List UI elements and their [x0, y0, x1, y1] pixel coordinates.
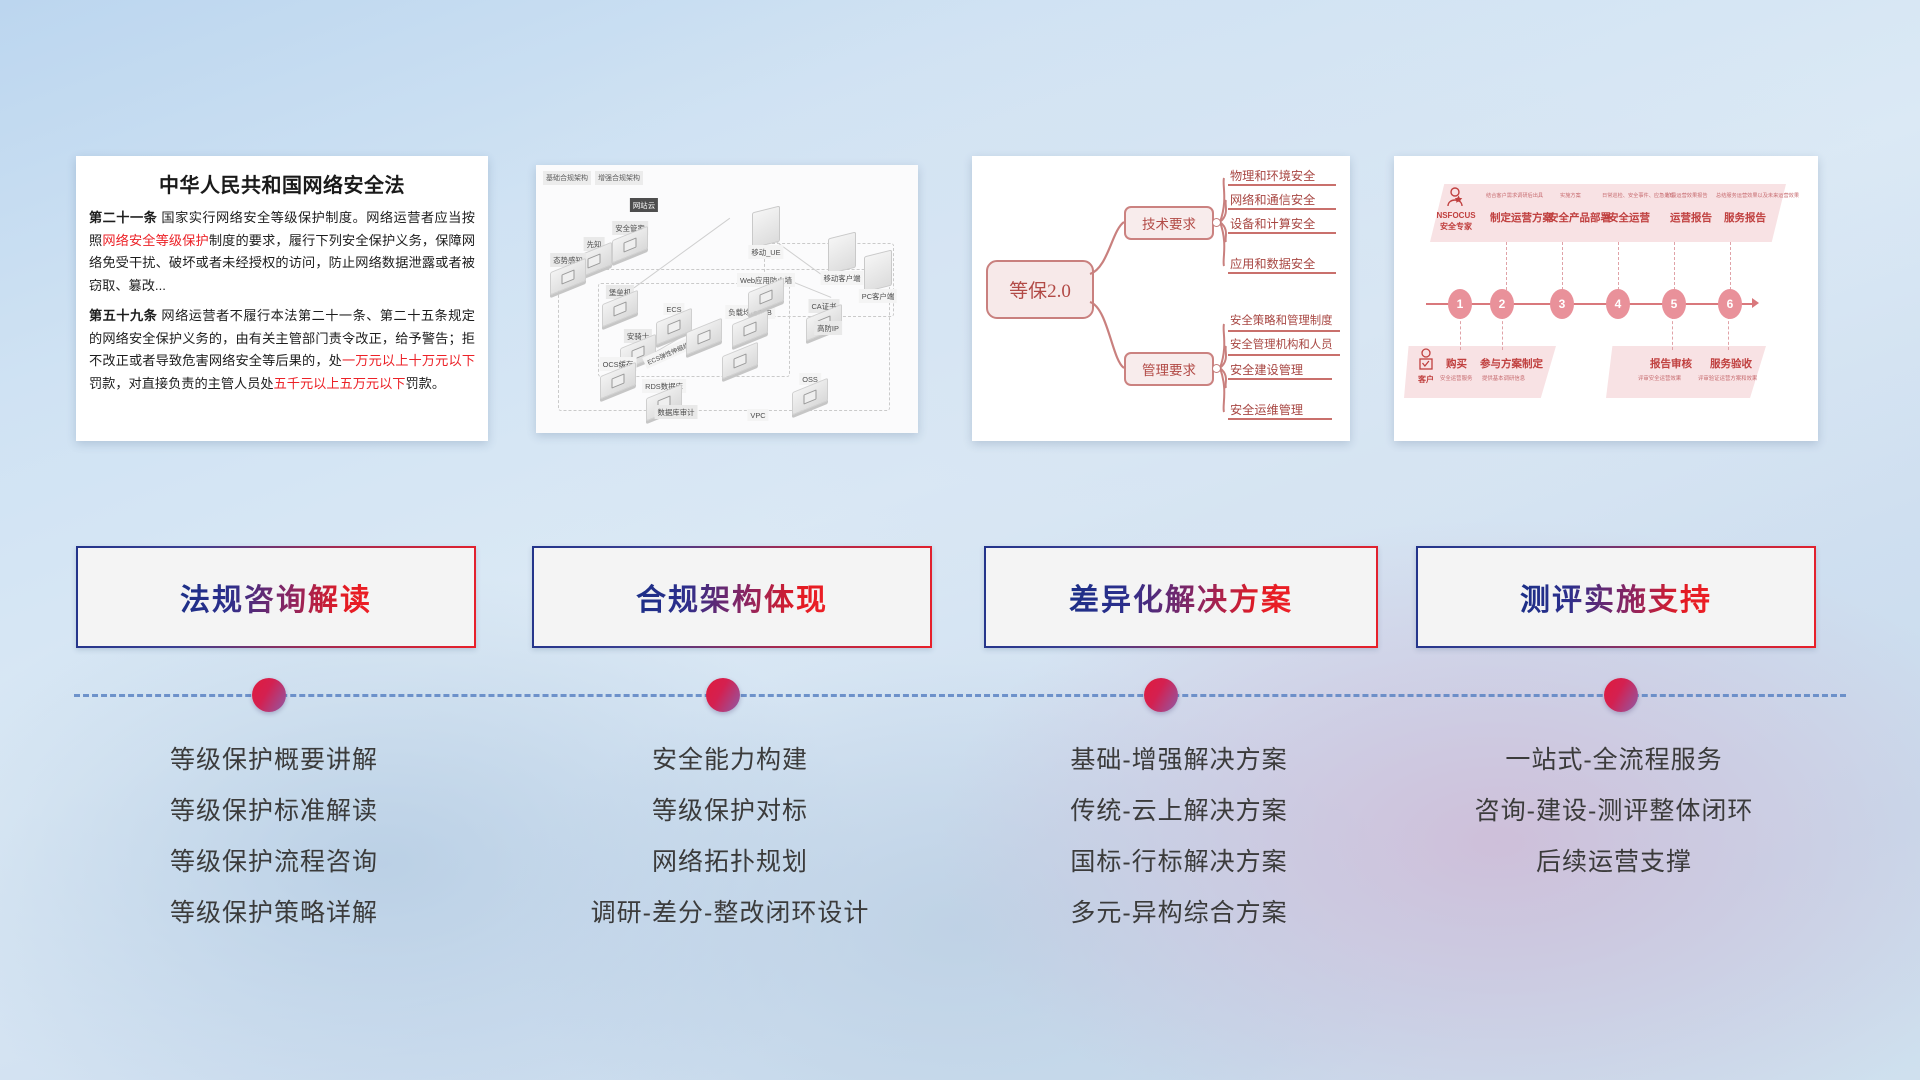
law-article-59-highlight-1: 一万元以上十万元以下	[342, 353, 475, 368]
timeline-customer-role: 客户	[1414, 374, 1438, 385]
timeline-step-node[interactable]: 2	[1490, 289, 1514, 319]
timeline-top-main: 运营报告	[1670, 210, 1712, 225]
arch-node-label: 高防IP	[814, 321, 842, 335]
timeline-expert-role-line1: NSFOCUS	[1436, 211, 1475, 220]
timeline-top-sub: 阶段运营效果报告	[1666, 192, 1708, 199]
timeline-connector	[1562, 242, 1564, 290]
timeline-expert-role: NSFOCUS 安全专家	[1426, 210, 1486, 232]
list-item: 国标-行标解决方案	[984, 837, 1374, 888]
mindmap-leaf[interactable]: 安全运维管理	[1230, 400, 1303, 418]
timeline-top-main: 安全运营	[1608, 210, 1650, 225]
law-article-21-highlight: 网络安全等级保护	[102, 233, 209, 248]
list-item: 基础-增强解决方案	[984, 735, 1374, 786]
section-heading-label: 测评实施支持	[1520, 575, 1712, 619]
timeline-top-main: 安全产品部署	[1548, 210, 1611, 225]
timeline-top-sub: 日常巡检、安全事件、应急处理	[1602, 192, 1675, 199]
list-item: 传统-云上解决方案	[984, 786, 1374, 837]
mindmap-leaf[interactable]: 安全管理机构和人员	[1230, 336, 1333, 352]
timeline-step-node[interactable]: 4	[1606, 289, 1630, 319]
timeline-connector	[1674, 242, 1676, 290]
mindmap-leaf[interactable]: 安全建设管理	[1230, 360, 1303, 378]
list-item: 调研-差分-整改闭环设计	[532, 888, 928, 939]
timeline-step-node[interactable]: 6	[1718, 289, 1742, 319]
rail-dot-3[interactable]	[1144, 678, 1178, 712]
rail-dot-1[interactable]	[252, 678, 286, 712]
arch-node-pc-client[interactable]: PC客户端	[864, 253, 892, 289]
law-article-59-highlight-2: 五千元以上五万元以下	[274, 376, 406, 391]
card-service-timeline[interactable]: NSFOCUS 安全专家 客户 结合客户需求调研后出具 制定运营方案 实施方案 …	[1394, 156, 1818, 441]
list-item: 等级保护概要讲解	[76, 735, 472, 786]
timeline-connector	[1730, 242, 1732, 290]
timeline-bottom-sub: 提供基本调研信息	[1482, 374, 1525, 382]
arch-node-label: 移动客户端	[821, 271, 864, 285]
section-heading-label: 合规架构体现	[636, 575, 828, 619]
customer-person-icon	[1416, 348, 1436, 372]
arch-node-label: 网站云	[630, 198, 658, 212]
list-item: 一站式-全流程服务	[1416, 735, 1812, 786]
section-heading-label: 差异化解决方案	[1069, 575, 1293, 619]
timeline-axis	[1426, 303, 1756, 305]
architecture-tab-enhanced[interactable]: 增强合规架构	[595, 171, 643, 185]
list-item: 咨询-建设-测评整体闭环	[1416, 786, 1812, 837]
list-item: 多元-异构综合方案	[984, 888, 1374, 939]
architecture-diagram: 基础合规架构 增强合规架构 网站云 安全管家	[536, 165, 918, 433]
timeline-step-node[interactable]: 1	[1448, 289, 1472, 319]
timeline-step-node[interactable]: 5	[1662, 289, 1686, 319]
mindmap-leaf[interactable]: 应用和数据安全	[1230, 254, 1315, 272]
law-article-59-label: 第五十九条	[89, 308, 157, 323]
law-body: 第二十一条 国家实行网络安全等级保护制度。网络运营者应当按照网络安全等级保护制度…	[76, 207, 488, 396]
mindmap-collapse-icon[interactable]	[1212, 364, 1221, 373]
arch-node-mobile-ue[interactable]: 移动_UE	[752, 209, 780, 245]
arch-node-mobile-client[interactable]: 移动客户端	[828, 235, 856, 271]
section-heading-differentiated-solution[interactable]: 差异化解决方案	[984, 546, 1378, 648]
mindmap-leaf-underline	[1228, 330, 1340, 332]
mindmap-collapse-icon[interactable]	[1212, 218, 1221, 227]
section-heading-regulation-consulting[interactable]: 法规咨询解读	[76, 546, 476, 648]
timeline-connector	[1502, 316, 1504, 350]
list-item: 等级保护标准解读	[76, 786, 472, 837]
law-article-59: 第五十九条 网络运营者不履行本法第二十一条、第二十五条规定的网络安全保护义务的，…	[89, 305, 475, 396]
timeline-connector	[1618, 242, 1620, 290]
arch-node-label: 移动_UE	[748, 245, 783, 259]
mindmap-leaf-underline	[1228, 378, 1332, 380]
arch-node-shape	[752, 206, 780, 249]
law-article-21: 第二十一条 国家实行网络安全等级保护制度。网络运营者应当按照网络安全等级保护制度…	[89, 207, 475, 298]
section-heading-compliance-architecture[interactable]: 合规架构体现	[532, 546, 932, 648]
arch-node-ecs-c	[722, 349, 758, 372]
mindmap-branch-technical[interactable]: 技术要求	[1124, 206, 1214, 240]
section-items-compliance-architecture: 安全能力构建 等级保护对标 网络拓扑规划 调研-差分-整改闭环设计	[532, 735, 928, 939]
timeline-bottom-main: 服务验收	[1710, 356, 1752, 371]
timeline-top-main: 服务报告	[1724, 210, 1766, 225]
timeline-bottom-sub: 评审安全运营效果	[1638, 374, 1681, 382]
timeline-dashed-rail	[74, 694, 1846, 699]
law-article-59-text-c: 罚款。	[406, 376, 446, 391]
mindmap-leaf-underline	[1228, 354, 1340, 356]
timeline-bottom-main: 参与方案制定	[1480, 356, 1543, 371]
expert-person-icon	[1444, 186, 1466, 208]
list-item: 网络拓扑规划	[532, 837, 928, 888]
mindmap-leaf-underline	[1228, 184, 1336, 186]
arch-node-oss[interactable]: OSS	[792, 373, 828, 408]
arch-node-waf[interactable]: Web应用防火墙	[748, 273, 784, 308]
arch-node-bastion-host[interactable]: 堡垒机	[602, 285, 638, 320]
architecture-tab-basic[interactable]: 基础合规架构	[543, 171, 591, 185]
arch-node-label: 数据库审计	[655, 405, 698, 419]
list-item: 等级保护对标	[532, 786, 928, 837]
arch-node-security-butler[interactable]: 安全管家	[612, 221, 648, 256]
card-cloud-architecture[interactable]: 基础合规架构 增强合规架构 网站云 安全管家	[536, 165, 918, 433]
arch-node-ecs-b	[686, 325, 722, 348]
section-items-differentiated-solution: 基础-增强解决方案 传统-云上解决方案 国标-行标解决方案 多元-异构综合方案	[984, 735, 1374, 939]
mindmap-leaf-underline	[1228, 418, 1332, 420]
arch-node-ocs-cache[interactable]: OCS缓存	[600, 357, 636, 392]
mindmap-leaf-underline	[1228, 272, 1336, 274]
section-items-assessment-support: 一站式-全流程服务 咨询-建设-测评整体闭环 后续运营支撑	[1416, 735, 1812, 888]
law-article-21-label: 第二十一条	[89, 210, 157, 225]
arch-node-label: PC客户端	[859, 289, 897, 303]
list-item: 等级保护策略详解	[76, 888, 472, 939]
section-heading-assessment-support[interactable]: 测评实施支持	[1416, 546, 1816, 648]
mindmap: 等保2.0 技术要求 管理要求 物理和环境安全	[972, 156, 1350, 441]
arch-node-label: VPC	[747, 409, 768, 421]
rail-dot-2[interactable]	[706, 678, 740, 712]
timeline-connector	[1460, 316, 1462, 350]
timeline-bottom-sub: 评审验证运营方案和效果	[1698, 374, 1757, 382]
architecture-tabs: 基础合规架构 增强合规架构	[543, 171, 643, 185]
timeline-bottom-main: 购买	[1446, 356, 1467, 371]
mindmap-branch-management[interactable]: 管理要求	[1124, 352, 1214, 386]
timeline-top-sub: 实施方案	[1560, 192, 1581, 199]
law-title: 中华人民共和国网络安全法	[76, 169, 488, 198]
card-cybersecurity-law[interactable]: 中华人民共和国网络安全法 第二十一条 国家实行网络安全等级保护制度。网络运营者应…	[76, 156, 488, 441]
section-heading-row: 法规咨询解读 合规架构体现 差异化解决方案 测评实施支持	[0, 546, 1920, 646]
timeline-bottom-main: 报告审核	[1650, 356, 1692, 371]
timeline-top-sub: 总结服务运营效果以及未来运营效果	[1716, 192, 1799, 199]
mindmap-leaf[interactable]: 物理和环境安全	[1230, 166, 1315, 184]
section-heading-label: 法规咨询解读	[180, 575, 372, 619]
mindmap-leaf[interactable]: 网络和通信安全	[1230, 190, 1315, 208]
timeline-connector	[1506, 242, 1508, 290]
law-article-59-text-b: 罚款，对直接负责的主管人员处	[89, 376, 274, 391]
list-item: 等级保护流程咨询	[76, 837, 472, 888]
list-item: 后续运营支撑	[1416, 837, 1812, 888]
timeline-connector	[1728, 316, 1730, 350]
mindmap-leaf[interactable]: 设备和计算安全	[1230, 214, 1315, 232]
mindmap-leaf[interactable]: 安全策略和管理制度	[1230, 312, 1333, 328]
list-item: 安全能力构建	[532, 735, 928, 786]
arch-node-situation-awareness[interactable]: 态势感知	[550, 253, 586, 288]
card-dengbao-mindmap[interactable]: 等保2.0 技术要求 管理要求 物理和环境安全	[972, 156, 1350, 441]
arch-node-shape	[864, 250, 892, 293]
timeline-step-node[interactable]: 3	[1550, 289, 1574, 319]
mindmap-leaf-underline	[1228, 208, 1336, 210]
arch-node-shape	[828, 232, 856, 275]
section-items-regulation-consulting: 等级保护概要讲解 等级保护标准解读 等级保护流程咨询 等级保护策略详解	[76, 735, 472, 939]
service-timeline: NSFOCUS 安全专家 客户 结合客户需求调研后出具 制定运营方案 实施方案 …	[1394, 156, 1818, 441]
timeline-top-sub: 结合客户需求调研后出具	[1486, 192, 1543, 199]
timeline-connector	[1672, 316, 1674, 350]
timeline-expert-role-line2: 安全专家	[1440, 222, 1472, 231]
timeline-arrow-icon	[1752, 298, 1759, 308]
thumbnail-card-row: 中华人民共和国网络安全法 第二十一条 国家实行网络安全等级保护制度。网络运营者应…	[0, 148, 1920, 444]
timeline-top-main: 制定运营方案	[1490, 210, 1553, 225]
timeline-bottom-sub: 安全运营服务	[1440, 374, 1472, 382]
timeline-bottom-band-right	[1606, 346, 1766, 398]
mindmap-leaf-underline	[1228, 232, 1336, 234]
slide-canvas: 中华人民共和国网络安全法 第二十一条 国家实行网络安全等级保护制度。网络运营者应…	[0, 0, 1920, 1080]
rail-dot-4[interactable]	[1604, 678, 1638, 712]
